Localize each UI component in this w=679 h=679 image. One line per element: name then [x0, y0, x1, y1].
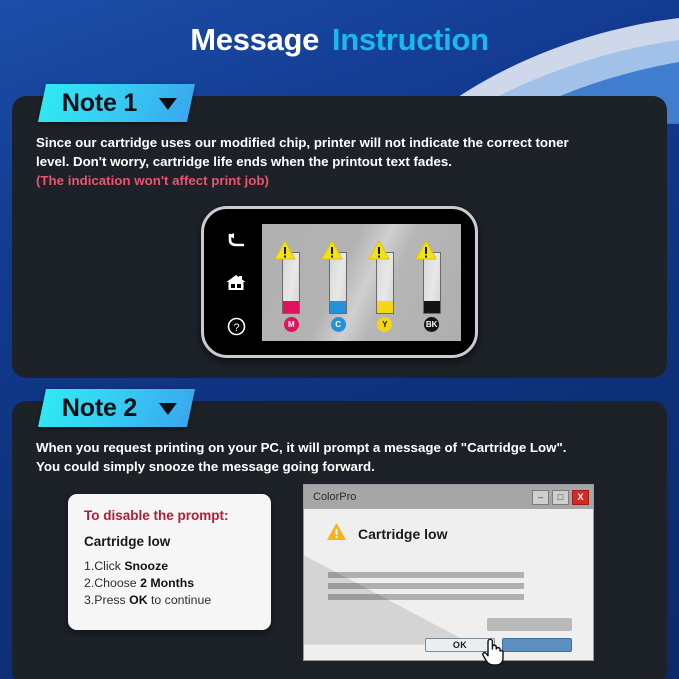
note-2-line-1: When you request printing on your PC, it… [36, 438, 655, 457]
dialog-placeholder-lines [328, 572, 524, 605]
note-2-tab[interactable]: Note 2 [38, 389, 195, 427]
toner-fill-level [283, 301, 299, 313]
placeholder-line [328, 583, 524, 589]
note-1-line-2: level. Don't worry, cartridge life ends … [36, 152, 655, 171]
printer-toner-screen: M C [262, 224, 461, 341]
panel-corner-mask [579, 300, 667, 378]
note-2-tab-label: Note 2 [62, 394, 137, 423]
toner-fill-level [330, 301, 346, 313]
minimize-icon[interactable]: – [532, 490, 549, 505]
dialog-ghost-field [487, 618, 572, 631]
toner-badge-yellow: Y [377, 317, 392, 332]
toner-fill-level [377, 301, 393, 313]
dialog-action-buttons: OK [304, 638, 593, 652]
note-1-line-1: Since our cartridge uses our modified ch… [36, 133, 655, 152]
dialog-body: Cartridge low OK [304, 509, 593, 661]
note-1-tab[interactable]: Note 1 [38, 84, 195, 122]
step-number: 1. [84, 559, 94, 573]
warning-triangle-icon [321, 240, 343, 265]
toner-fill-level [424, 301, 440, 313]
note-2-body: When you request printing on your PC, it… [36, 438, 655, 476]
warning-triangle-icon [274, 240, 296, 265]
step-bold: 2 Months [140, 576, 194, 590]
toner-badge-black: BK [424, 317, 439, 332]
maximize-icon[interactable]: □ [552, 490, 569, 505]
dialog-window-title: ColorPro [313, 491, 356, 503]
page-title-secondary: Instruction [332, 22, 489, 57]
close-icon[interactable]: X [572, 490, 589, 505]
step-number: 3. [84, 593, 94, 607]
placeholder-line [328, 594, 524, 600]
printer-side-buttons: ? [216, 219, 256, 349]
poster-root: Message Instruction Note 1 Since our car… [0, 0, 679, 679]
instruction-card: To disable the prompt: Cartridge low 1.C… [68, 494, 271, 630]
pointing-hand-cursor [481, 636, 505, 671]
dialog-titlebar: ColorPro – □ X [304, 485, 593, 509]
toner-badge-magenta: M [284, 317, 299, 332]
back-arrow-icon[interactable] [226, 232, 246, 249]
instruction-steps-list: 1.Click Snooze 2.Choose 2 Months 3.Press… [84, 558, 255, 609]
step-text: Click [94, 559, 124, 573]
toner-gauge-cyan: C [321, 238, 355, 333]
instruction-step: 3.Press OK to continue [84, 592, 255, 609]
dialog-message-text: Cartridge low [358, 526, 447, 542]
instruction-card-subheading: Cartridge low [84, 534, 255, 549]
toner-gauge-magenta: M [274, 238, 308, 333]
home-icon[interactable] [225, 274, 247, 292]
step-text: Press [94, 593, 129, 607]
chevron-down-icon [159, 97, 177, 109]
step-bold: Snooze [124, 559, 168, 573]
svg-text:?: ? [233, 322, 239, 334]
dialog-message-row: Cartridge low [326, 522, 447, 546]
instruction-step: 2.Choose 2 Months [84, 575, 255, 592]
cartridge-low-dialog: ColorPro – □ X Cartridge low [303, 484, 594, 661]
step-tail: to continue [148, 593, 212, 607]
help-icon[interactable]: ? [227, 317, 246, 336]
toner-gauge-yellow: Y [368, 238, 402, 333]
placeholder-line [328, 572, 524, 578]
instruction-step: 1.Click Snooze [84, 558, 255, 575]
page-title: Message Instruction [0, 22, 679, 58]
toner-badge-cyan: C [331, 317, 346, 332]
printer-control-panel: ? M [201, 206, 478, 358]
note-2-line-2: You could simply snooze the message goin… [36, 457, 655, 476]
step-number: 2. [84, 576, 94, 590]
warning-triangle-icon [326, 522, 347, 546]
instruction-card-heading: To disable the prompt: [84, 508, 255, 523]
warning-triangle-icon [368, 240, 390, 265]
step-text: Choose [94, 576, 140, 590]
note-1-body: Since our cartridge uses our modified ch… [36, 133, 655, 190]
note-1-tab-label: Note 1 [62, 89, 137, 118]
note-1-red-note: (The indication won't affect print job) [36, 171, 655, 190]
secondary-button[interactable] [502, 638, 572, 652]
chevron-down-icon [159, 402, 177, 414]
page-title-primary: Message [190, 22, 319, 57]
step-bold: OK [129, 593, 147, 607]
window-controls: – □ X [532, 490, 589, 505]
toner-gauge-black: BK [415, 238, 449, 333]
warning-triangle-icon [415, 240, 437, 265]
